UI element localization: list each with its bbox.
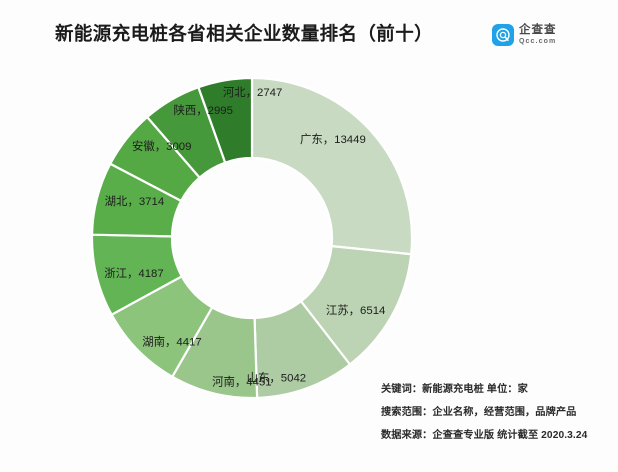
donut-slice-label: 湖南，4417 bbox=[142, 335, 202, 349]
donut-slice-label: 江苏，6514 bbox=[326, 304, 386, 317]
donut-slice-label: 浙江，4187 bbox=[104, 267, 164, 280]
donut-slice bbox=[252, 78, 412, 254]
footnote-keyword: 关键词：新能源充电桩 单位：家 bbox=[381, 385, 611, 395]
donut-slice-label: 广东，13449 bbox=[300, 133, 366, 146]
donut-slice-label: 河北，2747 bbox=[223, 86, 283, 99]
footnote-searchscope: 搜索范围：企业名称，经营范围，品牌产品 bbox=[381, 408, 611, 418]
footnote-datasource: 数据来源：企查查专业版 统计截至 2020.3.24 bbox=[381, 431, 611, 441]
donut-slice-label: 安徽，3009 bbox=[132, 139, 192, 153]
donut-slice-label: 湖北，3714 bbox=[105, 194, 165, 208]
donut-slice-label: 陕西，2995 bbox=[173, 103, 233, 117]
donut-slice-label: 河南，4451 bbox=[212, 375, 272, 389]
chart-page: 新能源充电桩各省相关企业数量排名（前十） 企查查 Qcc.com 广东，1344… bbox=[0, 0, 618, 472]
chart-footnotes: 关键词：新能源充电桩 单位：家 搜索范围：企业名称，经营范围，品牌产品 数据来源… bbox=[381, 385, 611, 455]
